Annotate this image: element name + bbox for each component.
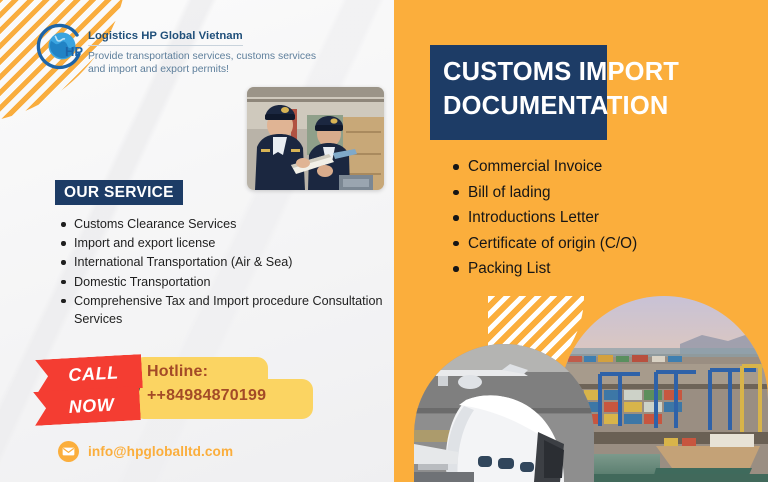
globe-hp-logo-icon: HP: [35, 22, 87, 74]
page-title-line-2: DOCUMENTATION: [443, 92, 668, 120]
tagline-line-1: Provide transportation services, customs…: [88, 51, 316, 62]
document-list: Commercial Invoice Bill of lading Introd…: [448, 154, 768, 282]
list-item: Certificate of origin (C/O): [468, 231, 768, 257]
cargo-airplane-photo: [414, 344, 594, 482]
service-list: Customs Clearance Services Import and ex…: [56, 215, 394, 329]
company-name: Logistics HP Global Vietnam: [88, 30, 243, 46]
company-tagline: Provide transportation services, customs…: [88, 50, 353, 77]
list-item: Customs Clearance Services: [74, 215, 394, 233]
tagline-line-2: and import and export permits!: [88, 64, 229, 75]
now-ribbon: NOW: [33, 386, 141, 426]
svg-text:HP: HP: [65, 44, 83, 59]
hotline-label: Hotline:: [147, 363, 208, 381]
list-item: Import and export license: [74, 234, 394, 252]
brand-header: Logistics HP Global Vietnam Provide tran…: [88, 26, 353, 77]
now-ribbon-label: NOW: [33, 386, 141, 426]
list-item: Packing List: [468, 256, 768, 282]
list-item: Bill of lading: [468, 180, 768, 206]
email-address[interactable]: info@hpgloballtd.com: [88, 444, 233, 459]
envelope-icon: [58, 441, 79, 462]
list-item: Introductions Letter: [468, 205, 768, 231]
customs-officers-photo: [247, 87, 384, 190]
list-item: Domestic Transportation: [74, 273, 394, 291]
poster-canvas: HP Logistics HP Global Vietnam Provide t…: [0, 0, 768, 482]
list-item: Comprehensive Tax and Import procedure C…: [74, 292, 394, 328]
page-title: CUSTOMS IMPORT DOCUMENTATION: [443, 55, 763, 123]
hotline-number[interactable]: ++84984870199: [147, 387, 266, 405]
our-service-heading: OUR SERVICE: [55, 180, 183, 205]
page-title-line-1: CUSTOMS IMPORT: [443, 58, 679, 86]
hotline-bubble: Hotline: ++84984870199: [133, 357, 313, 419]
list-item: International Transportation (Air & Sea): [74, 253, 394, 271]
email-contact-row[interactable]: info@hpgloballtd.com: [58, 441, 233, 462]
list-item: Commercial Invoice: [468, 154, 768, 180]
